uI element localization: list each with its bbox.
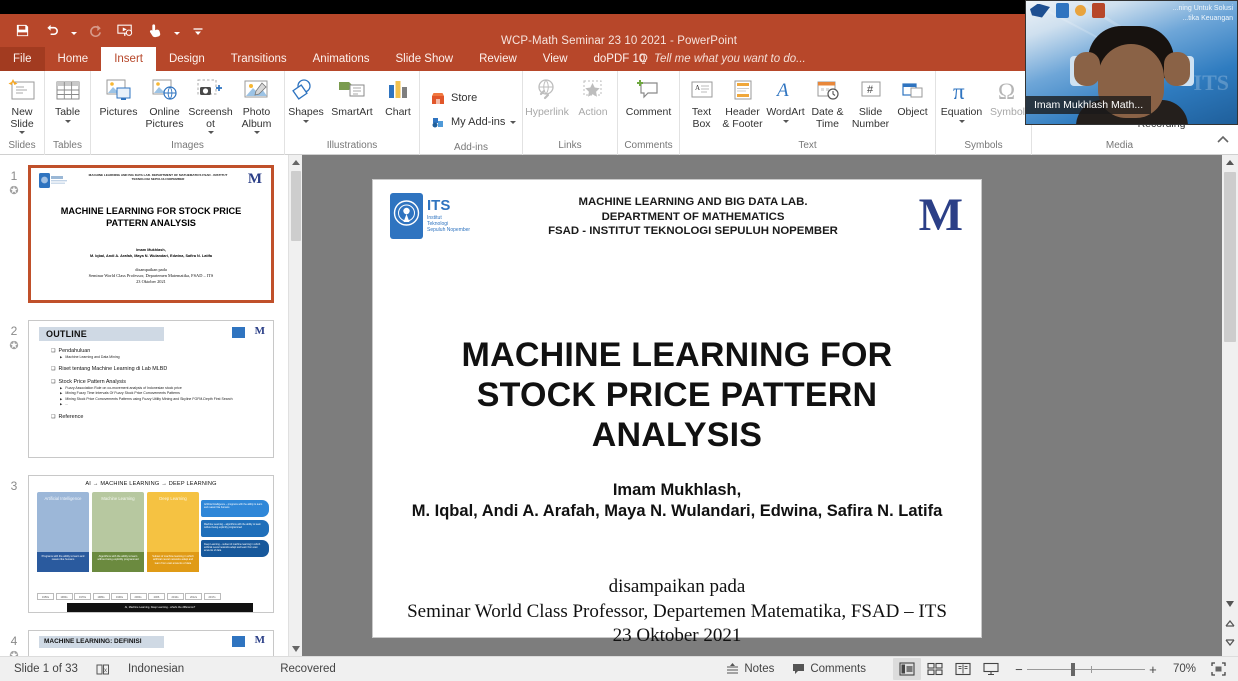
- tab-review[interactable]: Review: [466, 47, 530, 71]
- next-slide-button[interactable]: [1222, 634, 1238, 650]
- shapes-icon: [291, 74, 321, 107]
- tab-home[interactable]: Home: [45, 47, 102, 71]
- col-caption-dl: Deep Learning: [151, 496, 195, 501]
- my-addins-caret-icon[interactable]: [510, 121, 516, 124]
- its-logo-thumb-4: [232, 636, 245, 647]
- thumbnail-slide-4[interactable]: MACHINE LEARNING: DEFINISI M: [28, 630, 274, 656]
- ribbon-tabs: File Home Insert Design Transitions Anim…: [0, 47, 658, 71]
- tell-me-label: Tell me what you want to do...: [654, 47, 806, 71]
- spell-check-icon: x: [96, 663, 110, 676]
- webcam-banner-text: ...ning Untuk Solusi ...tika Keuangan: [1173, 4, 1233, 24]
- bullet-1: Pendahuluan: [51, 347, 261, 355]
- previous-slide-button[interactable]: [1222, 616, 1238, 632]
- tab-design[interactable]: Design: [156, 47, 218, 71]
- its-logo-thumb-1: [39, 173, 73, 189]
- thumbnail-number-3: 3: [0, 475, 28, 613]
- touch-mouse-mode-icon[interactable]: [141, 17, 169, 44]
- editor-scroll-handle[interactable]: [1224, 172, 1236, 342]
- thumbnail-row-1[interactable]: 1 ✪ MACHINE LEARNING AND BIG DATA LAB. D…: [0, 165, 288, 303]
- symbol-label: Symbol: [986, 107, 1030, 119]
- thumb-scroll-down-icon[interactable]: [289, 641, 303, 656]
- thumbnail-scrollbar[interactable]: [288, 155, 302, 656]
- year-6: 2006: [148, 593, 165, 600]
- year-7: 2010s: [167, 593, 184, 600]
- screenshot-button[interactable]: Screenshot: [188, 73, 234, 135]
- thumbnail-1-authors-line2: M. Iqbal, Andi A. Arafah, Maya N. Wuland…: [43, 254, 259, 260]
- action-button[interactable]: Action: [570, 73, 616, 120]
- thumbnail-2-title-bar: OUTLINE: [39, 327, 164, 341]
- ribbon-group-symbols: π Equation Ω Symbol Symbols: [936, 71, 1032, 155]
- online-pictures-icon: [150, 74, 180, 107]
- col-footer-ml: Algorithms with the ability to learn wit…: [92, 552, 144, 572]
- ribbon-group-illustrations: Shapes SmartArt Chart Illustrations: [285, 71, 420, 155]
- online-pictures-button[interactable]: Online Pictures: [142, 73, 188, 131]
- thumbnail-row-2[interactable]: 2 ✪ OUTLINE M Pendahuluan Machine Learni…: [0, 320, 288, 458]
- ribbon-group-images: Pictures Online Pictures Screenshot: [91, 71, 285, 155]
- text-box-label: Text Box: [683, 107, 721, 130]
- table-icon: [54, 74, 82, 107]
- tab-animations[interactable]: Animations: [300, 47, 383, 71]
- text-box-icon: A: [689, 74, 715, 107]
- date-time-icon: [815, 74, 841, 107]
- hyperlink-icon: [532, 74, 562, 107]
- start-from-beginning-icon[interactable]: [111, 17, 139, 44]
- group-label-tables: Tables: [45, 139, 90, 153]
- my-addins-button[interactable]: My Add-ins: [426, 110, 520, 134]
- thumbnail-row-3[interactable]: 3 AI → MACHINE LEARNING → DEEP LEARNING …: [0, 475, 288, 613]
- thumbnail-number-1: 1 ✪: [0, 165, 28, 303]
- new-slide-caret-icon[interactable]: [19, 131, 25, 134]
- thumbnail-4-title-bar: MACHINE LEARNING: DEFINISI: [39, 636, 164, 648]
- slide-footer[interactable]: disampaikan pada Seminar World Class Pro…: [383, 575, 971, 649]
- thumbnail-3-col-dl: Deep Learning Subset of machine learning…: [147, 492, 199, 572]
- animation-star-icon-4: ✪: [0, 649, 28, 656]
- card-ml: Machine Learning – algorithms with the a…: [201, 520, 269, 537]
- recovered-indicator[interactable]: Recovered: [271, 657, 345, 681]
- action-icon: [578, 74, 608, 107]
- slide-title[interactable]: MACHINE LEARNING FOR STOCK PRICE PATTERN…: [403, 335, 951, 455]
- new-slide-label: New Slide: [0, 107, 45, 130]
- thumbnail-3-caption-bar: AI, Machine Learning, Deep Learning - wh…: [67, 603, 253, 612]
- thumbnail-number-2: 2 ✪: [0, 320, 28, 458]
- bullet-7: Mining Stock Price Comovements Patterns …: [60, 397, 261, 402]
- shapes-button[interactable]: Shapes: [283, 73, 329, 124]
- status-bar: Slide 1 of 33 x Indonesian Recovered Not…: [0, 656, 1238, 681]
- table-caret-icon[interactable]: [65, 120, 71, 123]
- pictures-label: Pictures: [96, 107, 142, 119]
- svg-text:x: x: [104, 668, 107, 674]
- normal-view-button[interactable]: [893, 658, 921, 680]
- banner-logo-2-icon: [1056, 3, 1069, 18]
- ribbon-group-comments: Comment Comments: [618, 71, 680, 155]
- text-box-button[interactable]: A Text Box: [683, 73, 721, 131]
- wordart-caret-icon[interactable]: [783, 120, 789, 123]
- group-label-slides: Slides: [0, 139, 44, 153]
- my-addins-label: My Add-ins: [451, 116, 505, 128]
- zoom-level[interactable]: 70%: [1167, 657, 1202, 681]
- bullet-4: Stock Price Pattern Analysis: [51, 378, 261, 386]
- header-footer-label: Header & Footer: [721, 107, 765, 130]
- banner-logo-4-icon: [1092, 3, 1105, 18]
- tab-transitions[interactable]: Transitions: [218, 47, 300, 71]
- reading-view-icon: [955, 662, 971, 676]
- zoom-in-button[interactable]: +: [1145, 662, 1161, 677]
- smartart-label: SmartArt: [329, 107, 375, 119]
- notes-button[interactable]: Notes: [717, 657, 783, 681]
- lightbulb-icon: [638, 53, 649, 66]
- notes-icon: [726, 663, 739, 676]
- slide-header-line3: FSAD - INSTITUT TEKNOLOGI SEPULUH NOPEMB…: [503, 224, 883, 239]
- group-label-links: Links: [523, 139, 617, 153]
- object-label: Object: [893, 107, 933, 119]
- slide-header: MACHINE LEARNING AND BIG DATA LAB. DEPAR…: [503, 195, 883, 239]
- slide-canvas[interactable]: ITS Institut Teknologi Sepuluh Nopember …: [372, 179, 982, 638]
- tab-view[interactable]: View: [530, 47, 581, 71]
- fit-slide-to-window-icon: [1211, 662, 1226, 676]
- equation-icon: π: [947, 74, 977, 107]
- thumbnail-4-title: MACHINE LEARNING: DEFINISI: [44, 638, 142, 645]
- new-slide-button[interactable]: New Slide: [0, 73, 45, 135]
- slide-authors-line2: M. Iqbal, Andi A. Arafah, Maya N. Wuland…: [393, 501, 961, 522]
- svg-text:#: #: [867, 84, 874, 96]
- slide-header-line2: DEPARTMENT OF MATHEMATICS: [503, 210, 883, 225]
- shapes-label: Shapes: [283, 107, 329, 119]
- thumb-scroll-handle[interactable]: [291, 171, 301, 241]
- year-1: 1960s: [56, 593, 73, 600]
- hyperlink-button[interactable]: Hyperlink: [524, 73, 570, 120]
- slide-footer-line1: disampaikan pada: [383, 575, 971, 600]
- comments-button[interactable]: Comments: [783, 657, 875, 681]
- its-logo-thumb-2: [232, 327, 245, 338]
- thumbnail-1-footer: disampaikan pada Seminar World Class Pro…: [41, 267, 261, 286]
- webcam-banner-logos: [1030, 3, 1105, 18]
- notes-label: Notes: [744, 663, 774, 675]
- group-label-illustrations: Illustrations: [285, 139, 419, 153]
- slide-number-icon: #: [858, 74, 884, 107]
- object-button[interactable]: Object: [893, 73, 933, 120]
- thumbnail-1-footer-line3: 23 Oktober 2021: [41, 279, 261, 285]
- year-2: 1970s: [74, 593, 91, 600]
- thumbnail-1-header: MACHINE LEARNING AND BIG DATA LAB. DEPAR…: [83, 173, 233, 181]
- zoom-out-button[interactable]: −: [1011, 662, 1027, 677]
- thumbnail-2-bullets: Pendahuluan Machine Learning and Data Mi…: [51, 347, 261, 421]
- svg-text:Ω: Ω: [998, 79, 1015, 104]
- editor-scroll-down-icon[interactable]: [1222, 596, 1238, 612]
- chart-icon: [383, 74, 413, 107]
- redo-icon[interactable]: [81, 17, 109, 44]
- pictures-icon: [104, 74, 134, 107]
- thumbnail-4-logo-mark: M: [255, 635, 265, 646]
- equation-label: Equation: [938, 107, 986, 119]
- svg-text:ITS: ITS: [427, 197, 450, 214]
- year-5: 2000s: [130, 593, 147, 600]
- person-left-hand: [1074, 52, 1100, 86]
- group-label-addins: Add-ins: [420, 141, 522, 155]
- tab-slide-show[interactable]: Slide Show: [383, 47, 467, 71]
- save-icon[interactable]: [8, 17, 36, 44]
- powerpoint-window: WCP-Math Seminar 23 10 2021 - PowerPoint: [0, 0, 1238, 681]
- thumbnail-1-authors: Imam Mukhlash, M. Iqbal, Andi A. Arafah,…: [43, 248, 259, 259]
- tell-me-search[interactable]: Tell me what you want to do...: [638, 47, 806, 71]
- wordart-icon: A: [773, 74, 799, 107]
- wordart-button[interactable]: A WordArt: [765, 73, 807, 124]
- slide-show-icon: [983, 662, 999, 676]
- header-footer-button[interactable]: Header & Footer: [721, 73, 765, 131]
- thumbnail-3-timeline: 1950s 1960s 1970s 1980s 1990s 2000s 2006…: [37, 593, 221, 600]
- thumbnail-number-4: 4 ✪: [0, 630, 28, 656]
- thumb-scroll-up-icon[interactable]: [289, 155, 303, 170]
- table-button[interactable]: Table: [45, 73, 91, 124]
- online-pictures-label: Online Pictures: [142, 107, 188, 130]
- person-right-hand: [1164, 52, 1190, 86]
- ribbon-group-text: A Text Box Header & Footer A WordArt: [680, 71, 936, 155]
- group-label-text: Text: [680, 139, 935, 153]
- customize-qat-icon[interactable]: [184, 17, 212, 44]
- comment-label: Comment: [620, 107, 678, 119]
- wordart-label: WordArt: [765, 107, 807, 119]
- chart-button[interactable]: Chart: [375, 73, 421, 120]
- slide-logo-mark: M: [919, 192, 963, 239]
- svg-text:A: A: [695, 84, 700, 92]
- date-time-button[interactable]: Date & Time: [807, 73, 849, 131]
- reading-view-button[interactable]: [949, 658, 977, 680]
- thumbnail-row-4[interactable]: 4 ✪ MACHINE LEARNING: DEFINISI M: [0, 630, 288, 656]
- zoom-track[interactable]: [1027, 669, 1145, 670]
- group-label-media: Media: [1032, 139, 1207, 153]
- pictures-button[interactable]: Pictures: [96, 73, 142, 120]
- comment-button[interactable]: Comment: [620, 73, 678, 120]
- screenshot-icon: [196, 74, 226, 107]
- svg-text:Sepuluh Nopember: Sepuluh Nopember: [427, 227, 470, 233]
- language-indicator[interactable]: Indonesian: [119, 657, 193, 681]
- collapse-ribbon-icon[interactable]: [1216, 133, 1232, 149]
- zoom-handle[interactable]: [1071, 663, 1075, 676]
- webcam-overlay[interactable]: ...ning Untuk Solusi ...tika Keuangan IT…: [1025, 0, 1238, 125]
- slide-show-button[interactable]: [977, 658, 1005, 680]
- year-3: 1980s: [93, 593, 110, 600]
- zoom-midpoint-tick: [1091, 666, 1092, 673]
- banner-logo-3-icon: [1075, 5, 1086, 16]
- editor-scrollbar[interactable]: [1222, 155, 1238, 656]
- thumbnail-3-col-ai: Artificial Intelligence Programs with th…: [37, 492, 89, 572]
- photo-album-label: Photo Album: [234, 107, 280, 130]
- animation-star-icon-1: ✪: [0, 184, 28, 197]
- symbol-icon: Ω: [993, 74, 1023, 107]
- thumbnail-3-columns: Artificial Intelligence Programs with th…: [37, 492, 199, 572]
- thumbnail-slide-1[interactable]: MACHINE LEARNING AND BIG DATA LAB. DEPAR…: [28, 165, 274, 303]
- zoom-slider[interactable]: − +: [1005, 662, 1167, 677]
- equation-button[interactable]: π Equation: [938, 73, 986, 124]
- normal-view-icon: [899, 662, 915, 676]
- store-button[interactable]: Store: [426, 86, 481, 110]
- webcam-banner-line1: ...ning Untuk Solusi: [1173, 4, 1233, 14]
- chart-label: Chart: [375, 107, 421, 119]
- thumbnail-3-col-ml: Machine Learning Algorithms with the abi…: [92, 492, 144, 572]
- animation-star-icon-2: ✪: [0, 339, 28, 352]
- hyperlink-label: Hyperlink: [524, 107, 570, 119]
- slide-number-button[interactable]: # Slide Number: [849, 73, 893, 131]
- banner-logo-1-icon: [1030, 4, 1050, 18]
- group-label-images: Images: [91, 139, 284, 153]
- symbol-button[interactable]: Ω Symbol: [986, 73, 1030, 120]
- card-ai: Artificial Intelligence – programs with …: [201, 500, 269, 517]
- smartart-button[interactable]: SmartArt: [329, 73, 375, 120]
- slide-editor[interactable]: ITS Institut Teknologi Sepuluh Nopember …: [302, 155, 1238, 656]
- col-footer-dl: Subset of machine learning in which arti…: [147, 552, 199, 572]
- comments-label: Comments: [810, 663, 866, 675]
- action-label: Action: [570, 107, 616, 119]
- col-caption-ml: Machine Learning: [96, 496, 140, 501]
- bullet-8: ...: [60, 402, 261, 407]
- undo-dropdown-icon[interactable]: [68, 17, 79, 44]
- slide-authors-line1: Imam Mukhlash,: [393, 480, 961, 501]
- fit-to-window-button[interactable]: [1202, 657, 1238, 681]
- slide-sorter-button[interactable]: [921, 658, 949, 680]
- thumbnail-slide-2[interactable]: OUTLINE M Pendahuluan Machine Learning a…: [28, 320, 274, 458]
- thumbnail-1-title: MACHINE LEARNING FOR STOCK PRICE PATTERN…: [51, 206, 251, 229]
- year-0: 1950s: [37, 593, 54, 600]
- photo-album-icon: [242, 74, 272, 107]
- shapes-caret-icon[interactable]: [303, 120, 309, 123]
- store-icon: [430, 90, 446, 106]
- bullet-2: Machine Learning and Data Mining: [60, 355, 261, 360]
- screenshot-label: Screenshot: [188, 107, 234, 130]
- slide-header-line1: MACHINE LEARNING AND BIG DATA LAB.: [503, 195, 883, 210]
- touch-mode-dropdown-icon[interactable]: [171, 17, 182, 44]
- slide-title-line2: STOCK PRICE PATTERN: [403, 375, 951, 415]
- ribbon-group-slides: New Slide Slides: [0, 71, 45, 155]
- col-caption-ai: Artificial Intelligence: [41, 496, 85, 501]
- year-9: 2017s: [204, 593, 221, 600]
- year-8: 2012s: [185, 593, 202, 600]
- thumbnail-2-logo-mark: M: [255, 326, 265, 337]
- spell-check-button[interactable]: x: [87, 657, 119, 681]
- smartart-icon: [337, 74, 367, 107]
- group-label-comments: Comments: [618, 139, 679, 153]
- slide-sorter-icon: [927, 662, 943, 676]
- slide-authors[interactable]: Imam Mukhlash, M. Iqbal, Andi A. Arafah,…: [393, 480, 961, 522]
- thumbnail-3-title: AI → MACHINE LEARNING → DEEP LEARNING: [29, 481, 273, 487]
- its-logo: ITS Institut Teknologi Sepuluh Nopember: [390, 193, 478, 241]
- photo-album-caret-icon[interactable]: [254, 131, 260, 134]
- tab-file[interactable]: File: [0, 47, 45, 71]
- new-slide-icon: [7, 74, 37, 107]
- slide-number-label: Slide Number: [849, 107, 893, 130]
- bullet-9: Reference: [51, 413, 261, 421]
- webcam-participant-name: Imam Mukhlash Math...: [1026, 96, 1151, 114]
- header-footer-icon: [730, 74, 756, 107]
- photo-album-button[interactable]: Photo Album: [234, 73, 280, 135]
- slide-title-line1: MACHINE LEARNING FOR: [403, 335, 951, 375]
- bullet-3: Riset tentang Machine Learning di Lab ML…: [51, 365, 261, 373]
- group-label-symbols: Symbols: [936, 139, 1031, 153]
- year-4: 1990s: [111, 593, 128, 600]
- store-label: Store: [451, 92, 477, 104]
- thumbnail-slide-3[interactable]: AI → MACHINE LEARNING → DEEP LEARNING Ar…: [28, 475, 274, 613]
- ribbon-group-links: Hyperlink Action Links: [523, 71, 618, 155]
- date-time-label: Date & Time: [807, 107, 849, 130]
- equation-caret-icon[interactable]: [959, 120, 965, 123]
- table-label: Table: [45, 107, 91, 119]
- card-dl: Deep Learning – subset of machine learni…: [201, 540, 269, 557]
- comment-icon: [634, 74, 664, 107]
- undo-icon[interactable]: [38, 17, 66, 44]
- slide-footer-line2: Seminar World Class Professor, Departeme…: [383, 600, 971, 625]
- slide-footer-line3: 23 Oktober 2021: [383, 624, 971, 649]
- screenshot-caret-icon[interactable]: [208, 131, 214, 134]
- ribbon-group-addins: Store My Add-ins Add-ins: [420, 71, 523, 155]
- svg-text:π: π: [953, 79, 965, 104]
- object-icon: [900, 74, 926, 107]
- thumbnail-1-logo-mark: M: [248, 172, 262, 187]
- my-addins-icon: [430, 114, 446, 130]
- svg-text:A: A: [775, 80, 789, 101]
- comments-icon: [792, 663, 805, 675]
- tab-insert[interactable]: Insert: [101, 47, 156, 71]
- webcam-watermark: ITS: [1194, 70, 1229, 96]
- col-footer-ai: Programs with the ability to learn and r…: [37, 552, 89, 572]
- thumbnail-3-cards: Artificial Intelligence – programs with …: [201, 500, 269, 560]
- slide-thumbnail-pane[interactable]: 1 ✪ MACHINE LEARNING AND BIG DATA LAB. D…: [0, 155, 288, 656]
- thumbnail-2-title: OUTLINE: [46, 329, 87, 339]
- ribbon-group-tables: Table Tables: [45, 71, 91, 155]
- editor-scroll-up-icon[interactable]: [1222, 155, 1238, 171]
- slide-count[interactable]: Slide 1 of 33: [0, 657, 87, 681]
- slide-title-line3: ANALYSIS: [403, 415, 951, 455]
